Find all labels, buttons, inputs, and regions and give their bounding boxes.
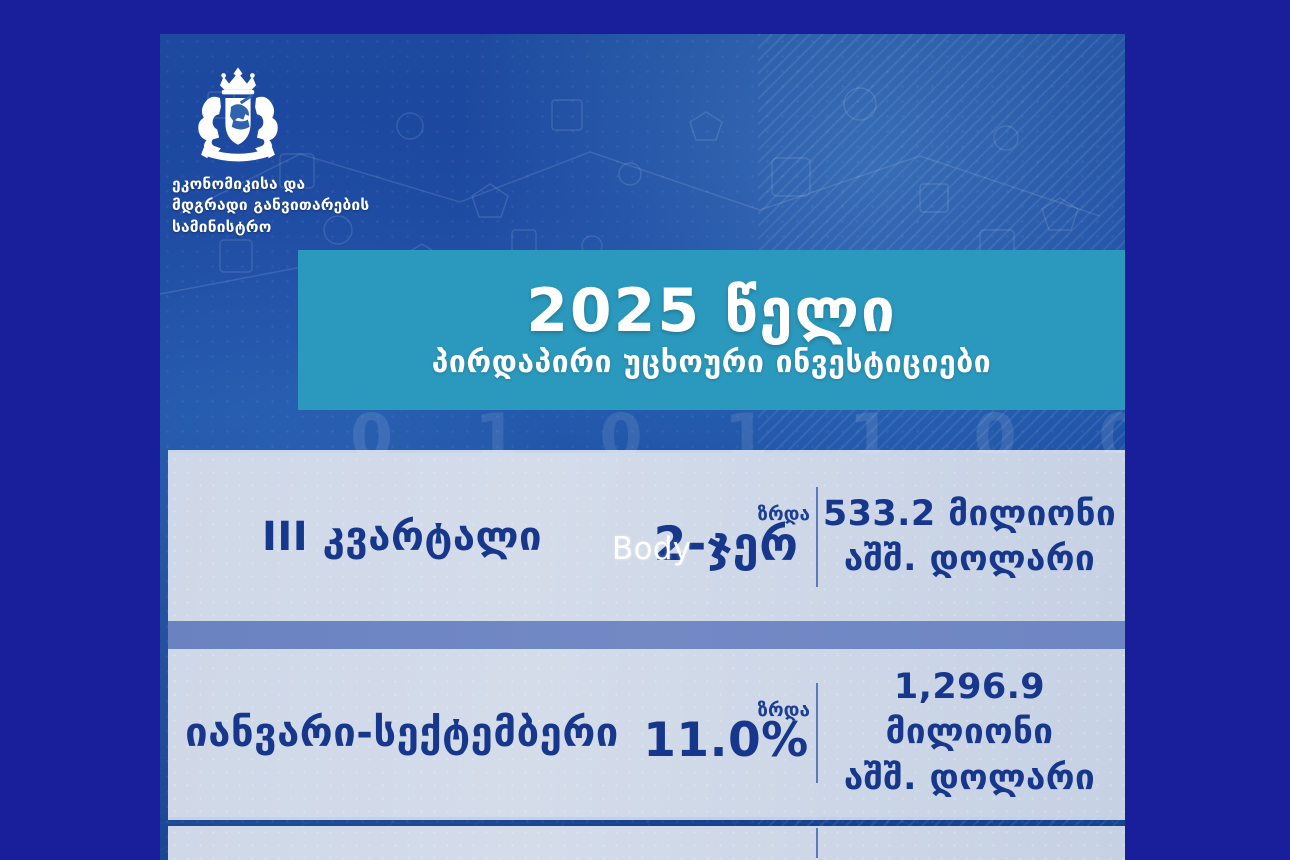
row-vertical-divider [816,828,818,858]
row-amount-line-1: 533.2 მილიონი [822,492,1117,538]
binary-decoration-strip: 0 1 0 1 1 0 0 1 0 1 0 [350,406,1125,456]
row-bottom-edge [168,817,1125,820]
georgia-coat-of-arms-icon [184,62,292,170]
row-amount-line-1: 1,296.9 მილიონი [822,665,1117,756]
table-row: იანვარი-სექტემბერი ზრდა 11.0% 1,296.9 მი… [168,649,1125,817]
page-title: 2025 წელი [526,281,897,342]
row-separator-band [168,621,1125,649]
ministry-name-line-1: ეკონომიკისა და [172,174,502,195]
row-growth-block: ზრდა 2-ჯერ Body [636,505,816,569]
infographic-card: ეკონომიკისა და მდგრადი განვითარების სამი… [160,34,1125,860]
card-header: ეკონომიკისა და მდგრადი განვითარების სამი… [160,34,1125,250]
row-period-label: III კვარტალი [168,514,636,560]
row-amount: 1,296.9 მილიონი აშშ. დოლარი [822,665,1125,802]
ministry-name-line-2: მდგრადი განვითარების [172,195,502,216]
ministry-name: ეკონომიკისა და მდგრადი განვითარების სამი… [172,174,502,238]
row-amount-line-2: აშშ. დოლარი [822,756,1117,802]
row-vertical-divider [816,487,818,587]
infographic-canvas: ეკონომიკისა და მდგრადი განვითარების სამი… [0,0,1290,860]
row-vertical-divider [816,683,818,783]
table-row: III კვარტალი ზრდა 2-ჯერ Body 533.2 მილიო… [168,453,1125,621]
row-growth-block: ზრდა 11.0% [636,701,816,765]
row-amount: 533.2 მილიონი აშშ. დოლარი [822,492,1125,583]
table-row-partial [168,826,1125,860]
row-period-label: იანვარი-სექტემბერი [168,710,636,756]
ministry-name-line-3: სამინისტრო [172,217,502,238]
row-amount-line-2: აშშ. დოლარი [822,537,1117,583]
page-subtitle: პირდაპირი უცხოური ინვესტიციები [432,346,992,379]
title-banner: 2025 წელი პირდაპირი უცხოური ინვესტიციები [298,250,1125,410]
row-growth-value: 11.0% [636,716,816,765]
overlay-text-body: Body [612,531,691,567]
